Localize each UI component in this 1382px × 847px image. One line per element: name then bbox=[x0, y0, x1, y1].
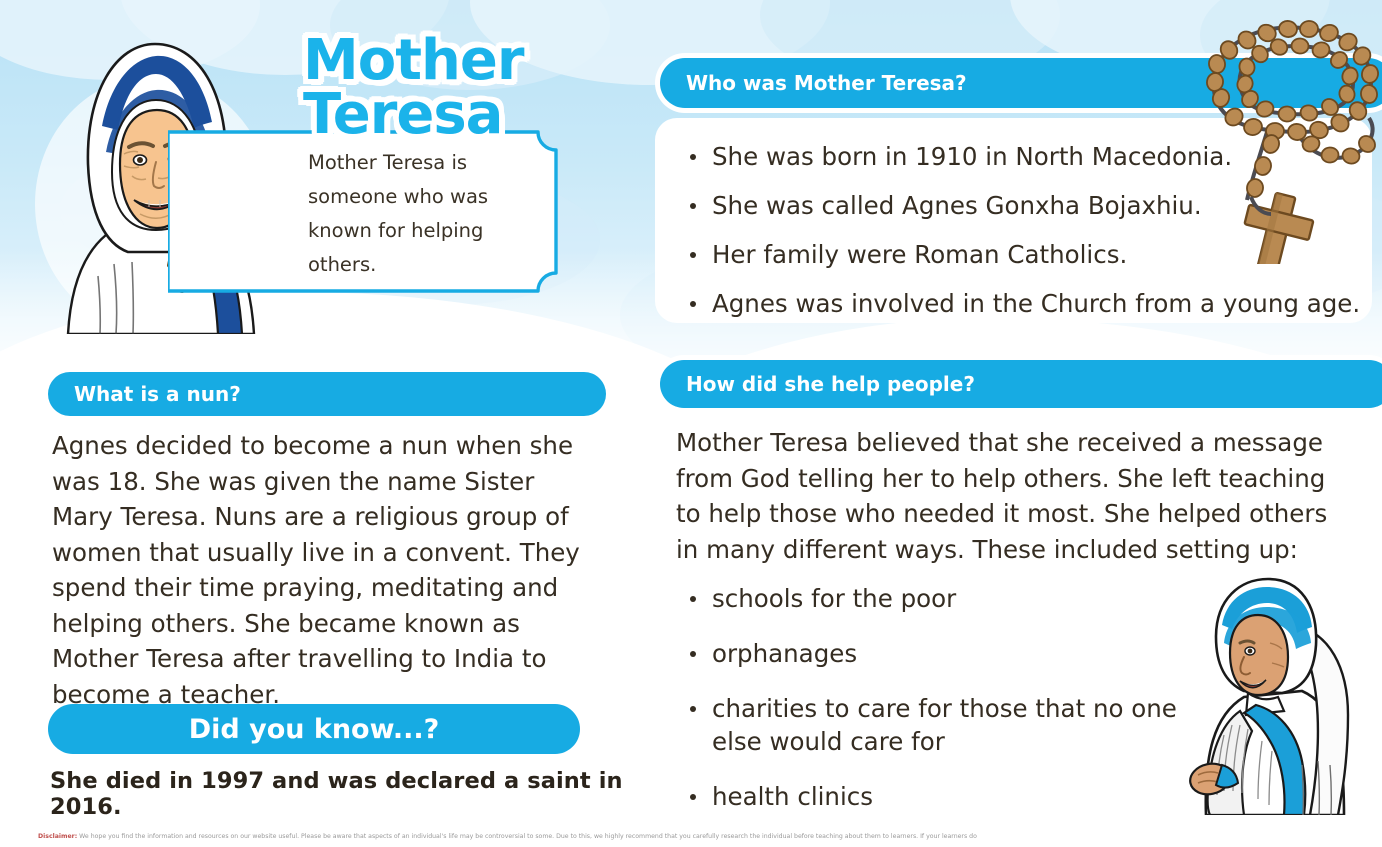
intro-speech-bubble: Mother Teresa is someone who was known f… bbox=[168, 128, 563, 295]
who-was-heading-label: Who was Mother Teresa? bbox=[686, 71, 967, 95]
list-item: orphanages bbox=[680, 637, 1180, 670]
bullet-text: orphanages bbox=[712, 639, 857, 668]
bullet-text: health clinics bbox=[712, 782, 873, 811]
bullet-text: She was called Agnes Gonxha Bojaxhiu. bbox=[712, 191, 1202, 220]
disclaimer-label: Disclaimer: bbox=[38, 833, 77, 840]
bullet-text: Agnes was involved in the Church from a … bbox=[712, 289, 1360, 318]
list-item: Agnes was involved in the Church from a … bbox=[680, 287, 1370, 320]
bullet-text: charities to care for those that no one … bbox=[712, 694, 1177, 756]
disclaimer-text: We hope you find the information and res… bbox=[77, 833, 977, 840]
list-item: charities to care for those that no one … bbox=[680, 692, 1182, 758]
poster-page: Mother Teresa Mother Teresa is someone w… bbox=[0, 0, 1382, 847]
how-help-heading-label: How did she help people? bbox=[686, 372, 975, 396]
bullet-text: Her family were Roman Catholics. bbox=[712, 240, 1127, 269]
how-help-bullet-list: schools for the poor orphanages charitie… bbox=[680, 582, 1180, 813]
did-you-know-heading-label: Did you know...? bbox=[189, 714, 440, 745]
page-title: Mother Teresa bbox=[303, 34, 633, 143]
bullet-text: schools for the poor bbox=[712, 584, 956, 613]
list-item: health clinics bbox=[680, 780, 1180, 813]
what-nun-heading: What is a nun? bbox=[48, 372, 606, 416]
what-nun-paragraph: Agnes decided to become a nun when she w… bbox=[52, 428, 597, 712]
did-you-know-fact: She died in 1997 and was declared a sain… bbox=[50, 768, 670, 820]
rosary-beads-icon bbox=[1155, 0, 1382, 264]
intro-bubble-text: Mother Teresa is someone who was known f… bbox=[308, 146, 548, 282]
disclaimer: Disclaimer: We hope you find the informa… bbox=[38, 833, 1348, 841]
list-item: schools for the poor bbox=[680, 582, 1180, 615]
mother-teresa-figure-icon bbox=[1152, 565, 1382, 815]
what-nun-heading-label: What is a nun? bbox=[74, 382, 241, 406]
how-help-paragraph: Mother Teresa believed that she received… bbox=[676, 425, 1336, 567]
how-help-heading: How did she help people? bbox=[660, 360, 1382, 408]
